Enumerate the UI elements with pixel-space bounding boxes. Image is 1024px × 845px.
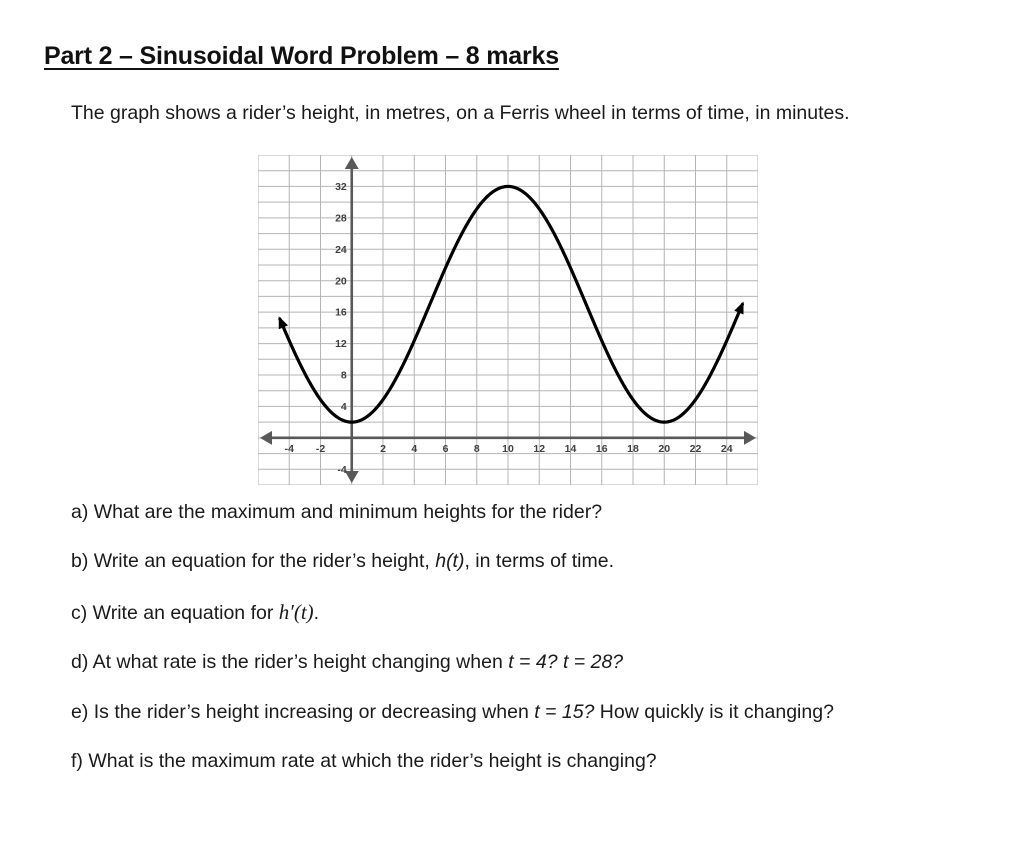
y-axis-arrow-up (345, 157, 359, 169)
y-tick-label: 24 (335, 244, 347, 256)
x-tick-label: 14 (565, 443, 577, 455)
x-tick-label: 8 (474, 443, 480, 455)
x-tick-label: 6 (443, 443, 449, 455)
x-tick-label: 10 (502, 443, 514, 455)
y-tick-label: -4 (337, 464, 346, 476)
intro-paragraph: The graph shows a rider’s height, in met… (71, 102, 850, 125)
x-axis-arrow-left (260, 431, 272, 445)
x-tick-label: 2 (380, 443, 386, 455)
question-f: f) What is the maximum rate at which the… (71, 750, 991, 772)
curve-arrow-left (279, 316, 288, 329)
x-tick-label: 24 (721, 443, 733, 455)
question-a-text: a) What are the maximum and minimum heig… (71, 501, 602, 523)
y-tick-label: 8 (341, 370, 347, 382)
question-c-text: c) Write an equation for (71, 602, 279, 624)
worksheet-page: Part 2 – Sinusoidal Word Problem – 8 mar… (0, 0, 1024, 845)
x-tick-label: -2 (316, 443, 325, 455)
y-tick-label: 4 (341, 401, 347, 413)
x-axis-arrow-right (744, 431, 756, 445)
y-axis-arrow-down (345, 471, 359, 483)
question-e-math: t = 15? (534, 701, 594, 723)
question-f-text: f) What is the maximum rate at which the… (71, 750, 657, 772)
y-tick-label: 12 (335, 338, 347, 350)
questions-list: a) What are the maximum and minimum heig… (71, 501, 991, 773)
question-d: d) At what rate is the rider’s height ch… (71, 651, 991, 673)
y-tick-label: 16 (335, 307, 347, 319)
question-d-text: d) At what rate is the rider’s height ch… (71, 651, 508, 673)
question-d-math: t = 4? t = 28? (508, 651, 623, 673)
question-c-suffix: . (314, 602, 319, 624)
height-curve (280, 186, 743, 422)
question-e: e) Is the rider’s height increasing or d… (71, 701, 991, 723)
page-title: Part 2 – Sinusoidal Word Problem – 8 mar… (44, 42, 559, 71)
question-c: c) Write an equation for h′(t). (71, 600, 991, 624)
question-b-math: h(t) (435, 550, 464, 572)
x-tick-label: 20 (658, 443, 670, 455)
y-tick-label: 32 (335, 181, 347, 193)
sinusoidal-graph-svg: -4-224681012141618202224-448121620242832 (258, 155, 758, 485)
question-c-math: h′(t) (279, 600, 314, 624)
question-b-suffix: , in terms of time. (464, 550, 614, 572)
y-tick-label: 28 (335, 212, 347, 224)
question-e-suffix: How quickly is it changing? (594, 701, 834, 723)
x-tick-label: 4 (411, 443, 417, 455)
question-e-text: e) Is the rider’s height increasing or d… (71, 701, 534, 723)
grid-lines (258, 155, 758, 485)
x-tick-label: 22 (690, 443, 702, 455)
question-b-text: b) Write an equation for the rider’s hei… (71, 550, 435, 572)
x-tick-label: 16 (596, 443, 608, 455)
question-a: a) What are the maximum and minimum heig… (71, 501, 991, 523)
y-tick-label: 20 (335, 275, 347, 287)
x-tick-label: 18 (627, 443, 639, 455)
x-tick-label: 12 (533, 443, 545, 455)
x-tick-label: -4 (285, 443, 294, 455)
question-b: b) Write an equation for the rider’s hei… (71, 550, 991, 572)
ferris-wheel-graph: -4-224681012141618202224-448121620242832 (258, 155, 758, 485)
